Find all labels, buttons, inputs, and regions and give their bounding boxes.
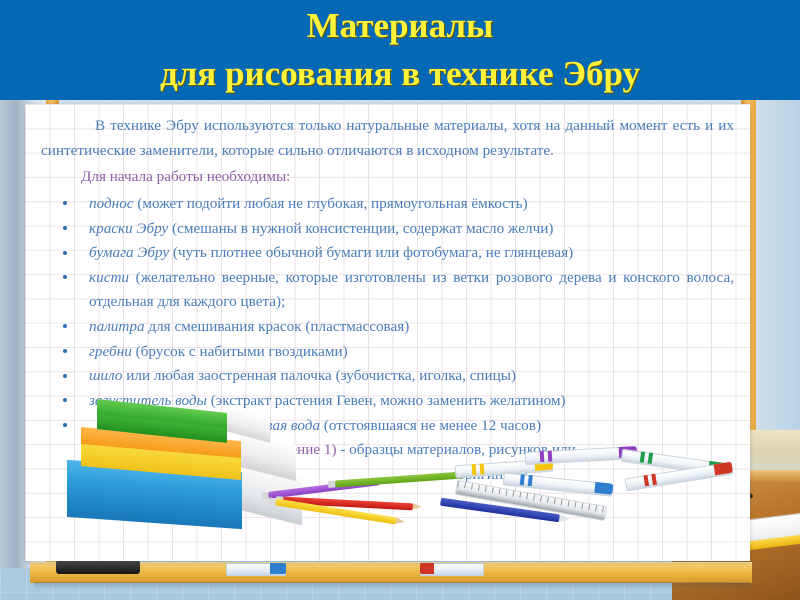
board-eraser-icon — [56, 560, 140, 574]
bullet-icon — [63, 324, 67, 328]
item-term: бумага Эбру — [89, 244, 169, 261]
ledge-marker-red-icon — [420, 563, 484, 576]
bullet-icon — [63, 226, 67, 230]
slide-header: Материалы для рисования в технике Эбру — [0, 0, 800, 100]
marker-band — [528, 475, 533, 486]
marker-cap — [594, 482, 613, 495]
item-rest: (отстоявшаяся не менее 12 часов) — [320, 417, 541, 434]
bullet-icon — [63, 349, 67, 353]
item-term: гребни — [89, 343, 132, 360]
list-item: поднос (может подойти любая не глубокая,… — [41, 192, 734, 217]
content-card: В технике Эбру используются только натур… — [25, 104, 750, 561]
marker-band — [472, 464, 477, 475]
ledge-marker-blue-icon — [226, 563, 286, 576]
marker-band — [540, 451, 545, 462]
bullet-icon — [63, 201, 67, 205]
item-rest: (брусок с набитыми гвоздиками) — [132, 343, 348, 360]
item-rest: или любая заостренная палочка (зубочистк… — [122, 367, 516, 384]
item-term: шило — [89, 367, 122, 384]
intro-paragraph: В технике Эбру используются только натур… — [41, 114, 734, 163]
slide-title-line2: для рисования в технике Эбру — [0, 56, 800, 91]
marker-band — [480, 463, 485, 474]
item-term: краски Эбру — [89, 220, 168, 237]
item-rest: (может подойти любая не глубокая, прямоу… — [134, 195, 528, 212]
item-term: палитра — [89, 318, 145, 335]
marker-band — [520, 474, 525, 485]
item-term: поднос — [89, 195, 134, 212]
marker-band — [648, 452, 653, 463]
marker-band — [643, 475, 649, 486]
item-rest: для смешивания красок (пластмассовая) — [145, 318, 410, 335]
list-item: шило или любая заостренная палочка (зубо… — [41, 364, 734, 389]
slide: Материалы для рисования в технике Эбру В… — [0, 0, 800, 600]
slide-title-line1: Материалы — [0, 8, 800, 43]
list-item: гребни (брусок с набитыми гвоздиками) — [41, 340, 734, 365]
list-item: бумага Эбру (чуть плотнее обычной бумаги… — [41, 241, 734, 266]
bullet-icon — [63, 398, 67, 402]
bullet-icon — [63, 251, 67, 255]
materials-list: поднос (может подойти любая не глубокая,… — [41, 192, 734, 438]
list-item: палитра для смешивания красок (пластмасс… — [41, 315, 734, 340]
item-rest: (смешаны в нужной консистенции, содержат… — [168, 220, 553, 237]
list-item: краски Эбру (смешаны в нужной консистенц… — [41, 217, 734, 242]
list-item: кисти (желательно веерные, которые изгот… — [41, 266, 734, 315]
marker-band — [548, 451, 553, 462]
bullet-icon — [63, 374, 67, 378]
lead-in-text: Для начала работы необходимы: — [41, 165, 734, 190]
chalkboard-ledge-shadow — [34, 582, 750, 589]
item-rest: (желательно веерные, которые изготовлены… — [89, 269, 734, 311]
marker-cap — [714, 462, 733, 476]
item-term: кисти — [89, 269, 129, 286]
book-green-pages — [226, 405, 270, 443]
item-rest: (чуть плотнее обычной бумаги или фотобум… — [169, 244, 573, 261]
marker-band — [640, 451, 645, 462]
book-stack — [59, 404, 289, 554]
bullet-icon — [63, 275, 67, 279]
marker-band — [651, 474, 657, 485]
